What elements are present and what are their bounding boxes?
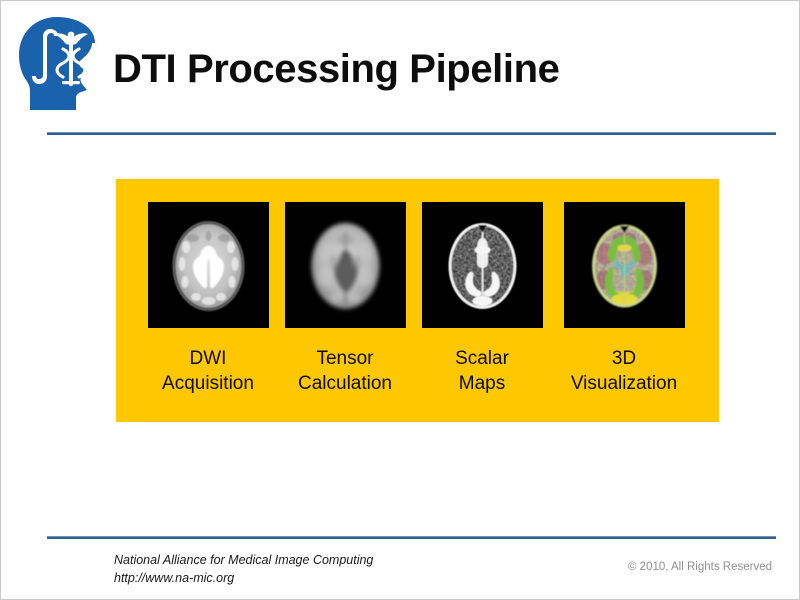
pipeline-stage-label: Scalar Maps [455, 346, 509, 396]
pipeline-stage-scalar-maps[interactable]: Scalar Maps [414, 202, 550, 396]
pipeline-stage-3d-visualization[interactable]: 3D Visualization [551, 202, 697, 396]
namic-head-caduceus-logo-icon [13, 13, 109, 117]
pipeline-stage-label: Tensor Calculation [298, 346, 392, 396]
pipeline-stage-dwi-acquisition[interactable]: DWI Acquisition [140, 202, 276, 396]
pipeline-stage-list: DWI Acquisition [116, 179, 719, 422]
axial-tensor-trace-brain-slice-icon [285, 202, 406, 328]
pipeline-panel: DWI Acquisition [116, 179, 719, 422]
header-divider [47, 132, 776, 135]
pipeline-stage-label: DWI Acquisition [162, 346, 254, 396]
footer-divider [47, 536, 776, 539]
axial-color-fa-brain-slice-icon [564, 202, 685, 328]
axial-dwi-brain-slice-icon [148, 202, 269, 328]
footer-organization: National Alliance for Medical Image Comp… [114, 551, 373, 587]
axial-fa-scalar-brain-slice-icon [422, 202, 543, 328]
slide-canvas: DTI Processing Pipeline [0, 0, 800, 600]
pipeline-stage-label: 3D Visualization [571, 346, 677, 396]
page-title: DTI Processing Pipeline [113, 48, 773, 90]
footer-copyright: © 2010, All Rights Reserved [628, 561, 772, 573]
pipeline-stage-tensor-calculation[interactable]: Tensor Calculation [277, 202, 413, 396]
